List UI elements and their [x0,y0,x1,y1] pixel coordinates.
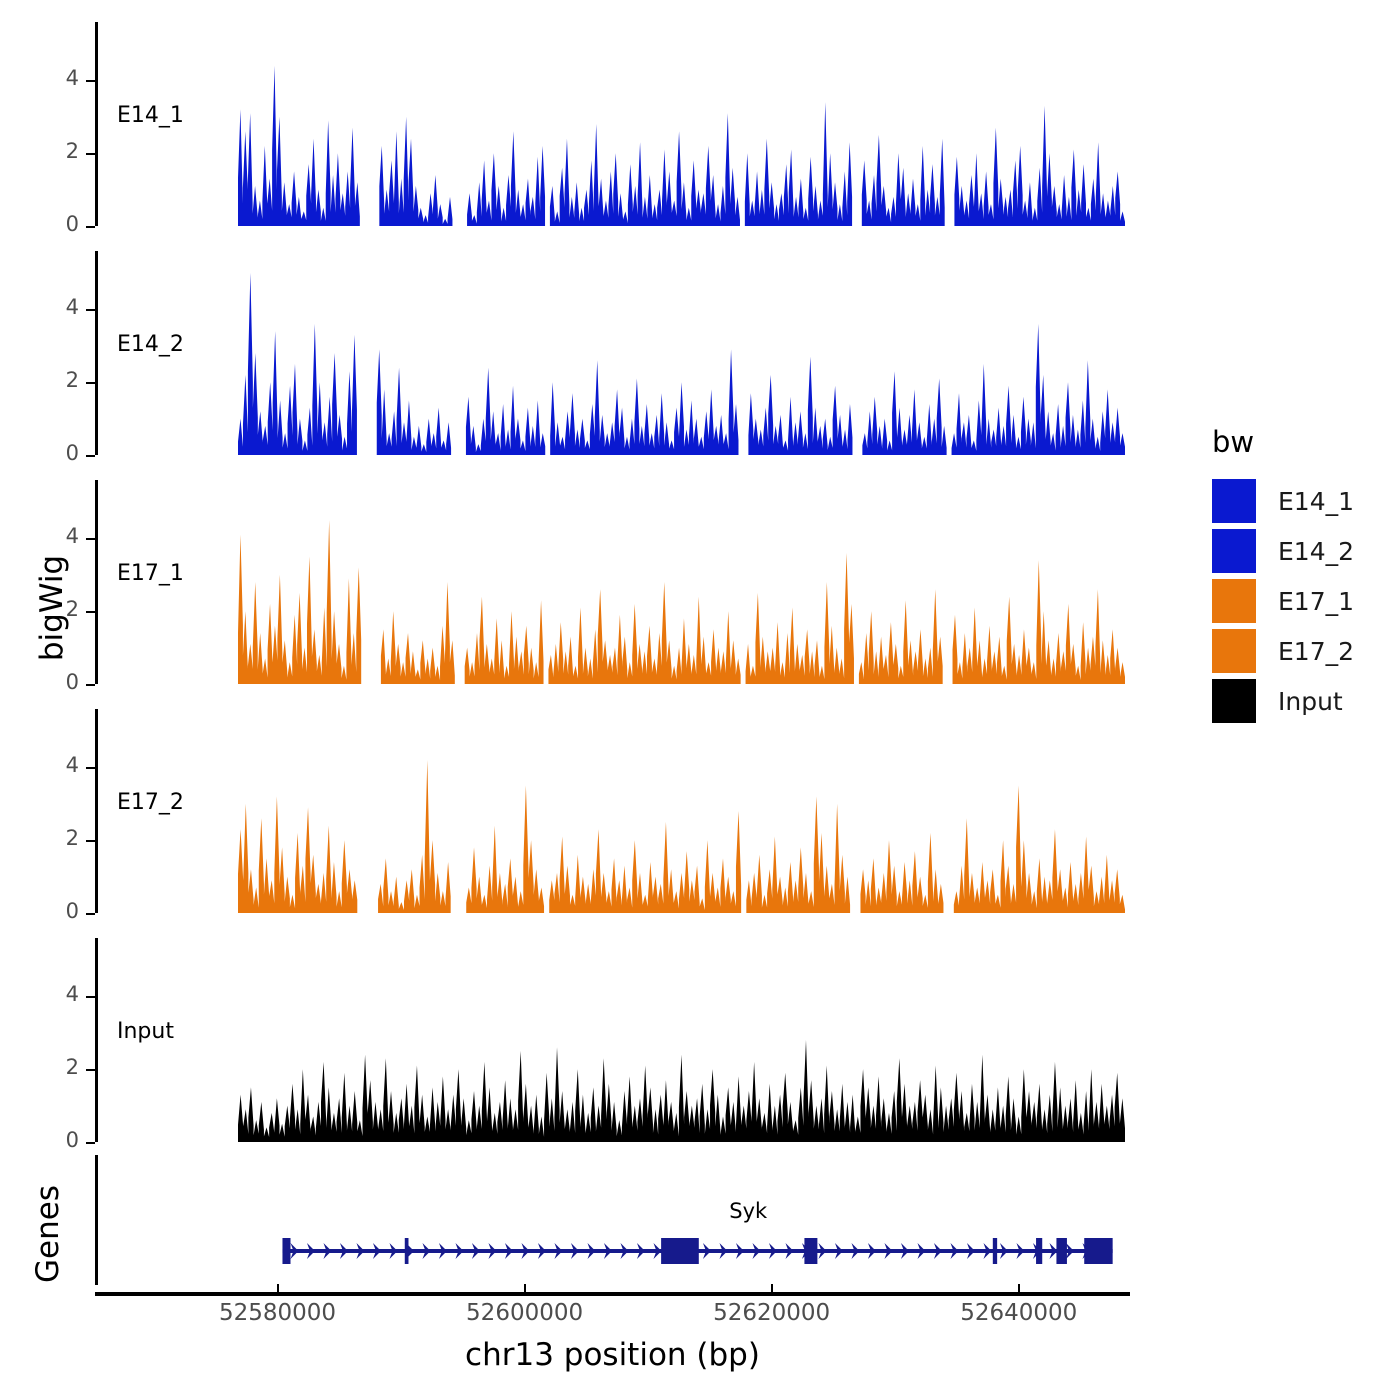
panel-label-e17_2: E17_2 [117,790,184,815]
gene-model-track[interactable] [95,1155,1130,1285]
y-tick-label: 2 [39,368,79,392]
y-tick [86,996,95,998]
y-tick [86,80,95,82]
y-tick-label: 4 [39,753,79,777]
legend-swatch [1212,529,1256,573]
x-tick [1018,1284,1020,1292]
legend-label: E17_1 [1278,587,1354,616]
y-axis-line [95,22,98,226]
panel-label-input: Input [117,1019,174,1044]
y-tick-label: 4 [39,66,79,90]
y-tick [86,611,95,613]
x-tick-label: 52600000 [415,1300,635,1326]
y-tick-label: 2 [39,597,79,621]
y-tick [86,840,95,842]
signal-track-e17_2[interactable] [238,709,1125,913]
x-axis-line [95,1292,1130,1296]
legend-title: bw [1212,425,1354,459]
legend-item-e17_1[interactable]: E17_1 [1212,577,1354,625]
y-axis-line [95,709,98,913]
x-tick [771,1284,773,1292]
y-tick [86,309,95,311]
x-tick [277,1284,279,1292]
y-tick-label: 4 [39,982,79,1006]
legend-items: E14_1E14_2E17_1E17_2Input [1212,477,1354,725]
y-tick [86,684,95,686]
panel-label-e14_1: E14_1 [117,103,184,128]
y-tick-label: 4 [39,295,79,319]
y-tick-label: 2 [39,139,79,163]
y-tick [86,226,95,228]
signal-track-e14_2[interactable] [238,251,1125,455]
legend-swatch [1212,679,1256,723]
panel-label-e17_1: E17_1 [117,561,184,586]
track-panel-e14_1: 024E14_1 [95,22,1130,226]
y-axis-title-genes: Genes [30,1174,66,1294]
y-tick-label: 0 [39,899,79,923]
y-tick [86,382,95,384]
signal-track-e14_1[interactable] [238,22,1125,226]
y-tick-label: 0 [39,1128,79,1152]
x-tick-label: 52620000 [662,1300,882,1326]
y-tick-label: 0 [39,212,79,236]
legend-label: E14_2 [1278,537,1354,566]
legend-label: E17_2 [1278,637,1354,666]
legend-swatch [1212,629,1256,673]
y-tick [86,538,95,540]
y-axis-line [95,251,98,455]
legend-item-e14_1[interactable]: E14_1 [1212,477,1354,525]
y-tick-label: 0 [39,441,79,465]
track-panel-e17_1: 024E17_1 [95,480,1130,684]
x-axis-title: chr13 position (bp) [95,1337,1130,1373]
track-panel-input: 024Input [95,938,1130,1142]
y-tick [86,455,95,457]
track-panel-e17_2: 024E17_2 [95,709,1130,913]
legend-item-e17_2[interactable]: E17_2 [1212,627,1354,675]
y-tick-label: 0 [39,670,79,694]
track-panel-e14_2: 024E14_2 [95,251,1130,455]
x-tick-label: 52640000 [909,1300,1129,1326]
y-tick [86,767,95,769]
legend-label: Input [1278,687,1343,716]
y-tick-label: 2 [39,826,79,850]
legend: bw E14_1E14_2E17_1E17_2Input [1212,425,1354,727]
legend-item-e14_2[interactable]: E14_2 [1212,527,1354,575]
y-tick-label: 4 [39,524,79,548]
signal-track-input[interactable] [238,938,1125,1142]
legend-swatch [1212,479,1256,523]
y-axis-line [95,938,98,1142]
signal-track-e17_1[interactable] [238,480,1125,684]
y-axis-line [95,480,98,684]
legend-label: E14_1 [1278,487,1354,516]
x-tick [524,1284,526,1292]
legend-swatch [1212,579,1256,623]
y-tick [86,913,95,915]
legend-item-input[interactable]: Input [1212,677,1354,725]
panel-label-e14_2: E14_2 [117,332,184,357]
y-tick [86,1142,95,1144]
x-tick-label: 52580000 [168,1300,388,1326]
genes-panel: Syk [95,1155,1130,1285]
y-tick-label: 2 [39,1055,79,1079]
y-tick [86,153,95,155]
y-tick [86,1069,95,1071]
